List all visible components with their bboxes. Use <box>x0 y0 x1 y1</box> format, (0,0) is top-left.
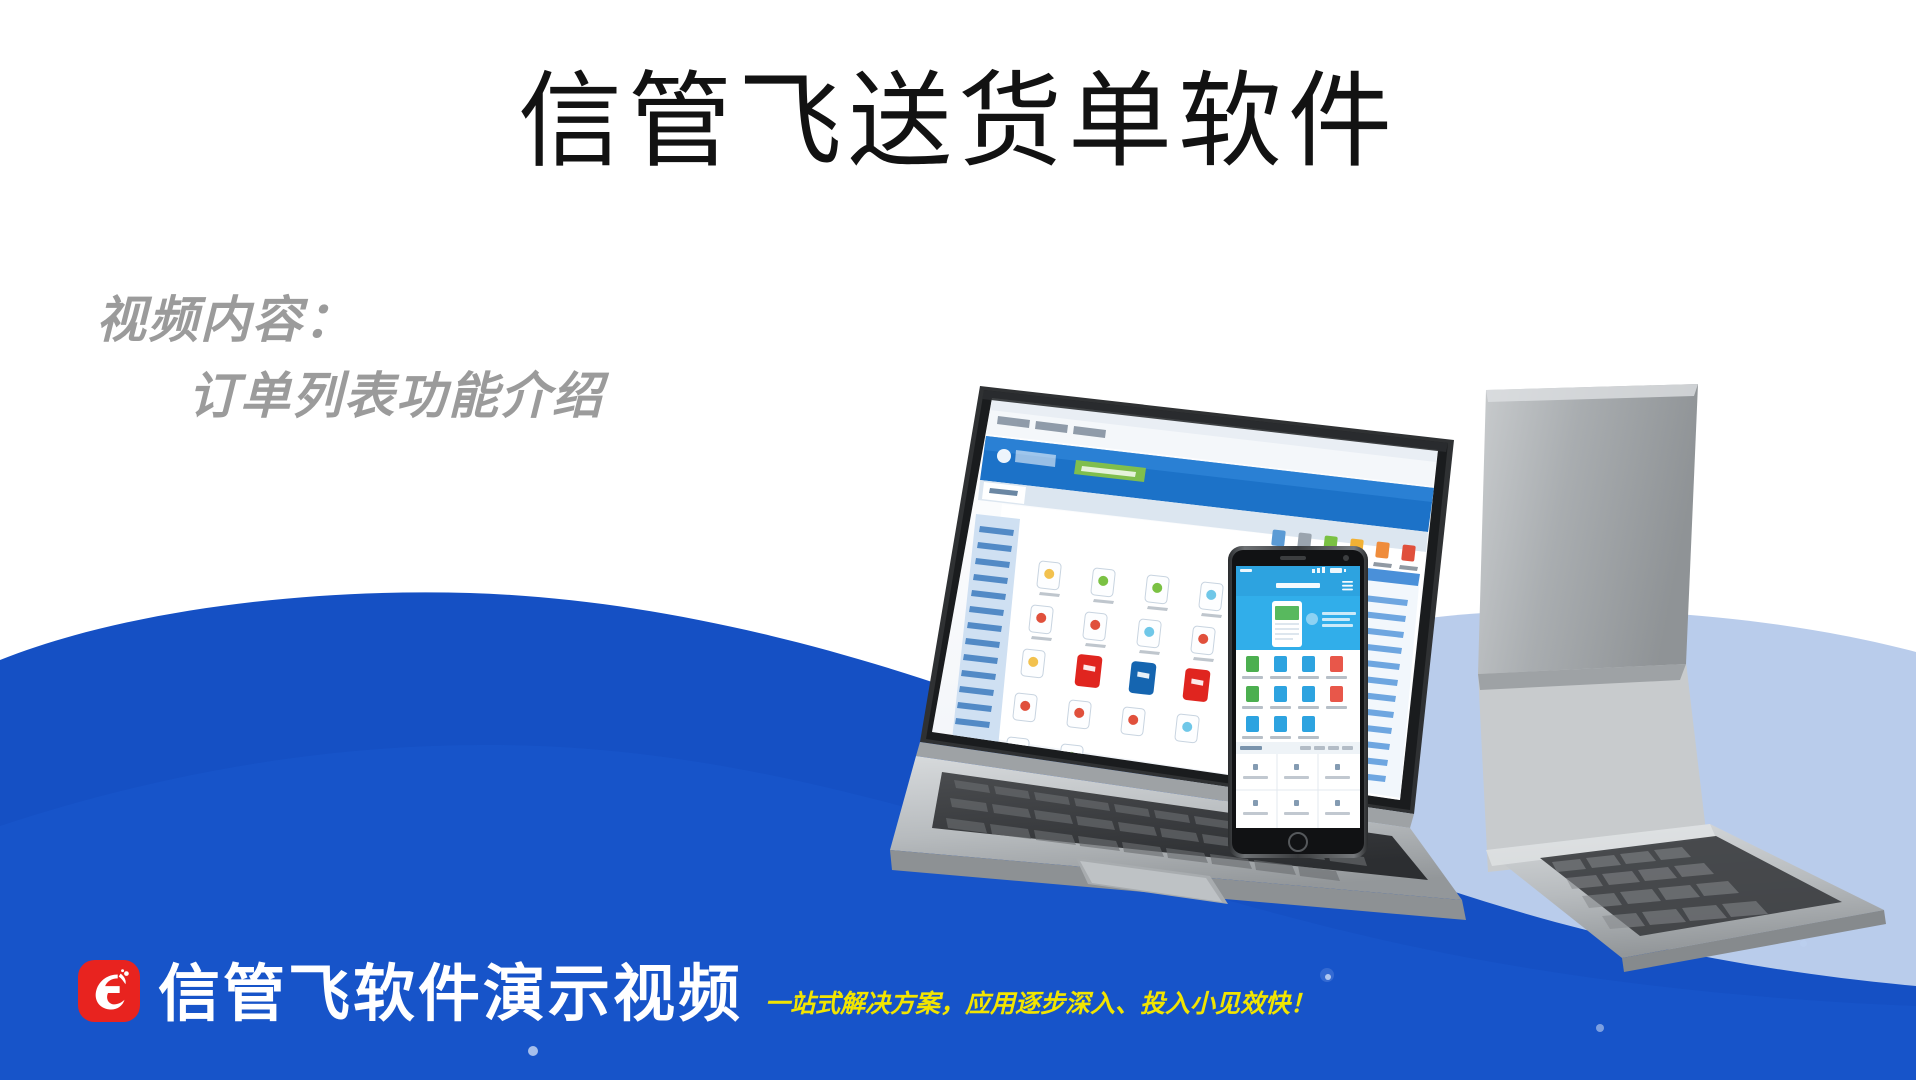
smartphone-icon <box>1228 546 1368 858</box>
hamburger-menu-icon <box>1342 581 1353 590</box>
laptop-front-icon <box>890 380 1470 920</box>
brand-name-text: 信管飞软件演示视频 <box>158 964 743 1026</box>
device-mockup-illustration <box>880 380 1916 980</box>
decorative-dot <box>1596 1024 1604 1032</box>
brand-footer: 信管飞软件演示视频 一站式解决方案，应用逐步深入、投入小见效快！ <box>78 960 1315 1026</box>
video-content-topic: 订单列表功能介绍 <box>96 358 604 434</box>
slide-title: 信管飞送货单软件 <box>0 62 1916 182</box>
laptop-back-icon <box>1478 384 1886 972</box>
brand-tagline-text: 一站式解决方案，应用逐步深入、投入小见效快！ <box>765 992 1315 1017</box>
presentation-slide: 信管飞送货单软件 视频内容： 订单列表功能介绍 <box>0 0 1916 1080</box>
decorative-dot <box>528 1046 538 1056</box>
phone-app-title <box>1276 583 1320 588</box>
video-content-label: 视频内容： <box>96 282 604 358</box>
video-content-block: 视频内容： 订单列表功能介绍 <box>96 282 604 434</box>
xinguanfei-bird-logo-icon <box>78 960 140 1022</box>
